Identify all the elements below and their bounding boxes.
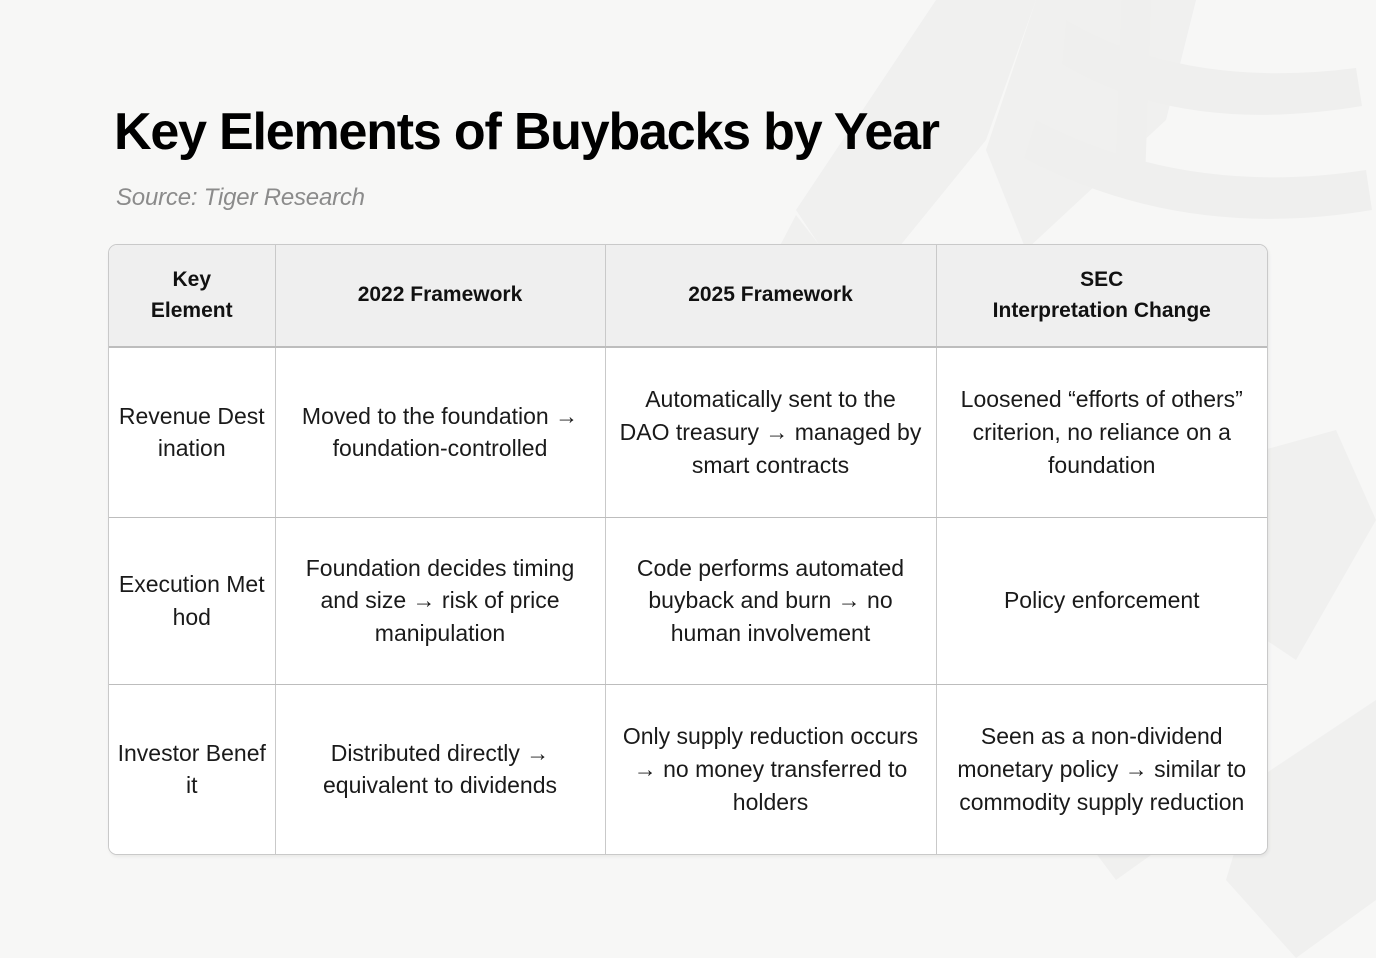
comparison-table-container: Key Element 2022 Framework 2025 Framewor…: [108, 244, 1268, 855]
column-header-line-2: Interpretation Change: [993, 299, 1211, 322]
table-header-row: Key Element 2022 Framework 2025 Framewor…: [109, 245, 1267, 347]
cell-sec-change: Seen as a non-dividend monetary policy →…: [936, 684, 1267, 854]
table-header: Key Element 2022 Framework 2025 Framewor…: [109, 245, 1267, 347]
cell-framework-2025: Code performs automated buyback and burn…: [605, 517, 936, 684]
cell-sec-change: Policy enforcement: [936, 517, 1267, 684]
table-row: Investor Benefit Distributed directly → …: [109, 684, 1267, 854]
column-header-framework-2022: 2022 Framework: [275, 245, 605, 347]
column-header-framework-2025: 2025 Framework: [605, 245, 936, 347]
table-body: Revenue Destination Moved to the foundat…: [109, 347, 1267, 854]
cell-framework-2025: Automatically sent to the DAO treasury →…: [605, 347, 936, 517]
source-attribution: Source: Tiger Research: [116, 184, 365, 212]
table-row: Execution Method Foundation decides timi…: [109, 517, 1267, 684]
cell-key-element: Investor Benefit: [109, 684, 275, 854]
cell-framework-2022: Foundation decides timing and size → ris…: [275, 517, 605, 684]
cell-sec-change: Loosened “efforts of others” criterion, …: [936, 347, 1267, 517]
cell-framework-2022: Distributed directly → equivalent to div…: [275, 684, 605, 854]
column-header-line-1: 2025 Framework: [688, 283, 853, 306]
column-header-key-element: Key Element: [109, 245, 275, 347]
column-header-line-1: Key: [172, 268, 211, 291]
page-title: Key Elements of Buybacks by Year: [114, 104, 939, 160]
cell-framework-2022: Moved to the foundation → foundation-con…: [275, 347, 605, 517]
column-header-sec-change: SEC Interpretation Change: [936, 245, 1267, 347]
column-header-line-2: Element: [151, 299, 233, 322]
cell-key-element: Revenue Destination: [109, 347, 275, 517]
cell-key-element: Execution Method: [109, 517, 275, 684]
column-header-line-1: 2022 Framework: [358, 283, 523, 306]
table-row: Revenue Destination Moved to the foundat…: [109, 347, 1267, 517]
comparison-table: Key Element 2022 Framework 2025 Framewor…: [109, 245, 1267, 854]
column-header-line-1: SEC: [1080, 268, 1123, 291]
cell-framework-2025: Only supply reduction occurs → no money …: [605, 684, 936, 854]
